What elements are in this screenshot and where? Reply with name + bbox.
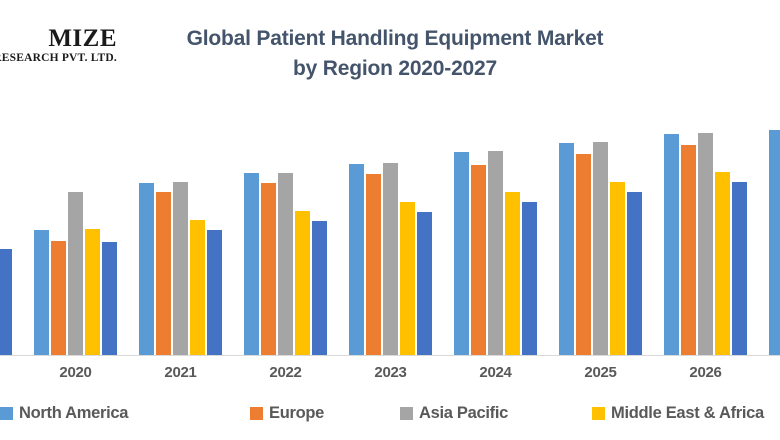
bar-middle-east-africa-2022 [295, 211, 310, 355]
x-axis-label-2020: 2020 [36, 364, 116, 381]
x-axis-label-2024: 2024 [456, 364, 536, 381]
bar-europe-2022 [261, 183, 276, 355]
bar-asia-pacific-2026 [698, 133, 713, 355]
bar-north-america-2023 [349, 164, 364, 355]
x-axis-label-2025: 2025 [561, 364, 641, 381]
bar-middle-east-africa-2024 [505, 192, 520, 355]
bar-middle-east-africa-2021 [190, 220, 205, 355]
bar-asia-pacific-2022 [278, 173, 293, 355]
bar-asia-pacific-2021 [173, 182, 188, 355]
bar-north-america-2026 [664, 134, 679, 355]
legend-label: North America [19, 404, 128, 423]
bar-europe-2026 [681, 145, 696, 355]
bar-asia-pacific-2024 [488, 151, 503, 355]
legend-item-asia-pacific[interactable]: Asia Pacific [400, 404, 508, 423]
legend-item-north-america[interactable]: North America [0, 404, 128, 423]
logo-wordmark: MIZE [0, 26, 117, 51]
legend-swatch-icon [400, 407, 413, 420]
bar-latin-america-2023 [417, 212, 432, 355]
x-axis-line [0, 355, 780, 356]
x-axis-label-2023: 2023 [351, 364, 431, 381]
bar-middle-east-africa-2020 [85, 229, 100, 355]
legend-label: Asia Pacific [419, 404, 508, 423]
bar-north-america-2021 [139, 183, 154, 355]
legend-item-middle-east-africa[interactable]: Middle East & Africa [592, 404, 764, 423]
x-axis-label-2021: 2021 [141, 364, 221, 381]
legend-item-europe[interactable]: Europe [250, 404, 324, 423]
bar-asia-pacific-2025 [593, 142, 608, 355]
chart-title-line-2: by Region 2020-2027 [150, 54, 640, 84]
bar-north-america-2020 [34, 230, 49, 355]
company-logo: MIZE RESEARCH PVT. LTD. [0, 26, 117, 65]
bar-europe-2025 [576, 154, 591, 355]
bar-latin-america-2025 [627, 192, 642, 355]
plot-area [0, 90, 780, 356]
x-axis-label-2022: 2022 [246, 364, 326, 381]
bar-asia-pacific-2020 [68, 192, 83, 355]
legend-label: Europe [269, 404, 324, 423]
legend-swatch-icon [250, 407, 263, 420]
x-axis-tick-labels: 2020202120222023202420252026 [0, 364, 780, 388]
chart-legend: North AmericaEuropeAsia PacificMiddle Ea… [0, 404, 780, 434]
bar-north-america-2025 [559, 143, 574, 355]
bar-latin-america-2019 [0, 249, 12, 355]
bar-latin-america-2026 [732, 182, 747, 355]
x-axis-label-2026: 2026 [666, 364, 746, 381]
bar-north-america-2024 [454, 152, 469, 355]
chart-title-line-1: Global Patient Handling Equipment Market [150, 24, 640, 54]
bar-asia-pacific-2023 [383, 163, 398, 355]
bar-latin-america-2022 [312, 221, 327, 355]
bar-north-america-2027 [769, 130, 780, 355]
bar-europe-2020 [51, 241, 66, 355]
bar-europe-2023 [366, 174, 381, 355]
bar-latin-america-2021 [207, 230, 222, 355]
legend-label: Middle East & Africa [611, 404, 764, 423]
bar-europe-2021 [156, 192, 171, 355]
logo-tagline: RESEARCH PVT. LTD. [0, 53, 117, 65]
chart-container: MIZE RESEARCH PVT. LTD. Global Patient H… [0, 0, 780, 440]
bar-latin-america-2020 [102, 242, 117, 355]
bar-middle-east-africa-2025 [610, 182, 625, 355]
bar-latin-america-2024 [522, 202, 537, 355]
chart-title: Global Patient Handling Equipment Market… [150, 24, 640, 84]
bar-north-america-2022 [244, 173, 259, 355]
bar-middle-east-africa-2026 [715, 172, 730, 355]
legend-swatch-icon [0, 407, 13, 420]
bar-middle-east-africa-2023 [400, 202, 415, 355]
legend-swatch-icon [592, 407, 605, 420]
bar-europe-2024 [471, 165, 486, 355]
